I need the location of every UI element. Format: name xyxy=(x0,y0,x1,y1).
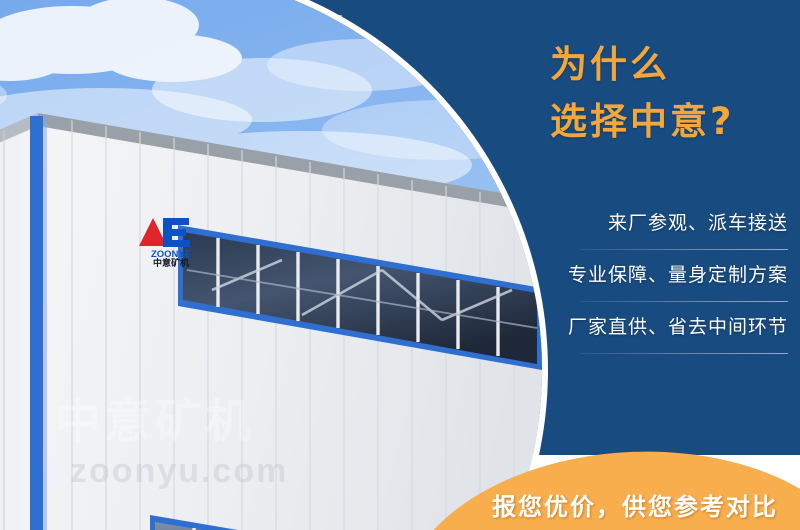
cta-banner-text: 报您优价，供您参考对比 xyxy=(470,487,800,522)
factory-photo xyxy=(0,0,542,530)
promo-banner: ZOONYE 中意矿机 中意矿机 zoonyu.com 为什么 选择中意? 来厂… xyxy=(0,0,800,530)
text-panel: 为什么 选择中意? 来厂参观、派车接送 专业保障、量身定制方案 厂家直供、省去中… xyxy=(520,0,800,475)
headline-line-2: 选择中意? xyxy=(550,97,800,147)
feature-item-1: 来厂参观、派车接送 xyxy=(540,198,800,249)
headline: 为什么 选择中意? xyxy=(550,40,800,147)
feature-item-2: 专业保障、量身定制方案 xyxy=(540,250,800,301)
feature-divider-3 xyxy=(580,353,788,354)
headline-line-1: 为什么 xyxy=(550,40,800,90)
feature-list: 来厂参观、派车接送 专业保障、量身定制方案 厂家直供、省去中间环节 xyxy=(540,198,800,354)
company-logo: ZOONYE 中意矿机 xyxy=(133,212,211,268)
svg-text:中意矿机: 中意矿机 xyxy=(153,257,189,268)
feature-item-3: 厂家直供、省去中间环节 xyxy=(540,302,800,353)
factory-photo-image xyxy=(0,0,542,530)
